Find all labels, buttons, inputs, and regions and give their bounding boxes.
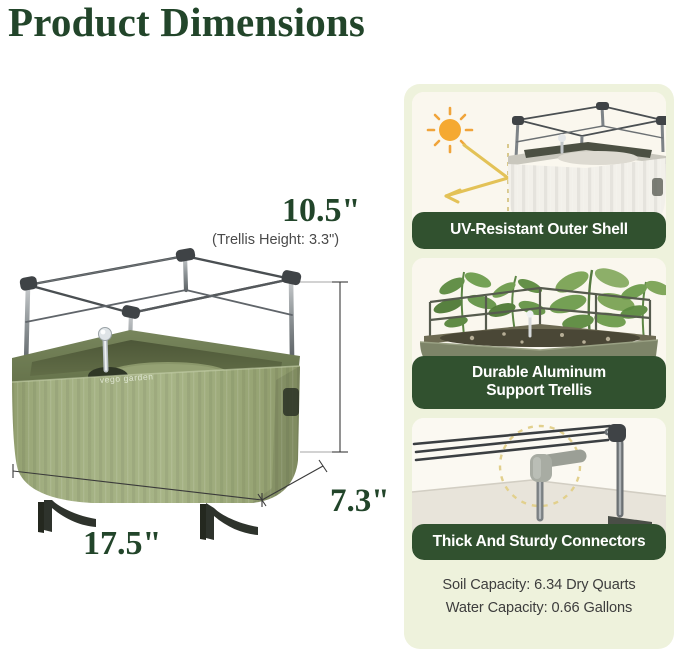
feature-panel: UV-Resistant Outer Shell [404, 84, 674, 649]
feature-card-image-connectors [412, 418, 666, 536]
feature-label-line-2: Support Trellis [486, 382, 592, 399]
product-drawing: vego garden [0, 170, 400, 590]
planter-legs [38, 500, 258, 540]
capacity-info: Soil Capacity: 6.34 Dry Quarts Water Cap… [412, 574, 666, 619]
feature-card-uv-resistant[interactable]: UV-Resistant Outer Shell [412, 92, 666, 249]
feature-card-label-connectors: Thick And Sturdy Connectors [412, 524, 666, 561]
feature-card-label-trellis: Durable Aluminum Support Trellis [412, 356, 666, 409]
planter-body: vego garden [12, 330, 300, 503]
feature-label-line-1: Durable Aluminum [472, 364, 606, 381]
feature-card-trellis[interactable]: Durable Aluminum Support Trellis [412, 258, 666, 409]
water-capacity-text: Water Capacity: 0.66 Gallons [412, 597, 666, 620]
soil-capacity-text: Soil Capacity: 6.34 Dry Quarts [412, 574, 666, 597]
page-title: Product Dimensions [8, 0, 365, 46]
product-dimension-illustration: 10.5" (Trellis Height: 3.3") 17.5" 7.3" [0, 170, 400, 590]
feature-card-image-trellis [412, 258, 666, 368]
feature-card-connectors[interactable]: Thick And Sturdy Connectors [412, 418, 666, 561]
feature-card-label-uv: UV-Resistant Outer Shell [412, 212, 666, 249]
feature-card-image-uv [412, 92, 666, 224]
